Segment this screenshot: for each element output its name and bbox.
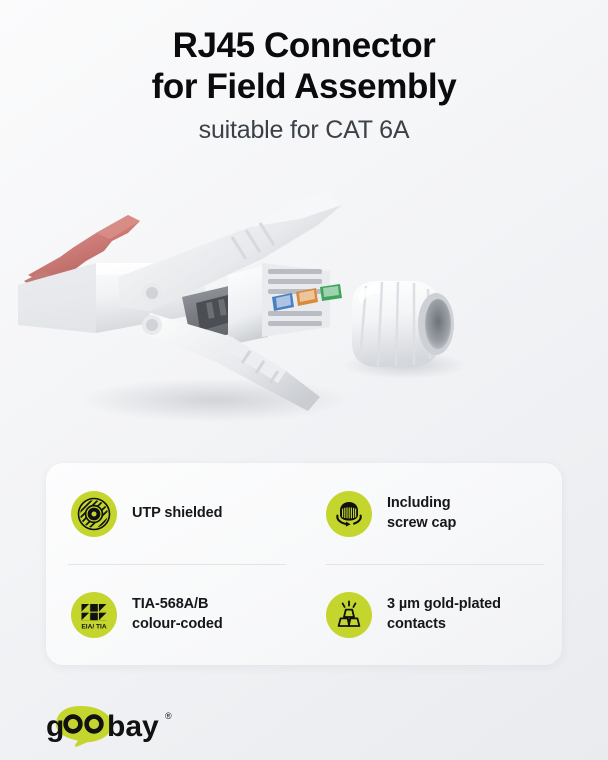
feature-label: TIA-568A/B colour-coded (132, 595, 223, 634)
page-title: RJ45 Connector for Field Assembly (0, 26, 608, 107)
page-subtitle: suitable for CAT 6A (0, 116, 608, 145)
logo-text-bay: bay (107, 710, 159, 743)
feature-including-screw-cap: Including screw cap (304, 463, 562, 564)
contact-comb-block (228, 263, 342, 345)
eia-tia-colour-grid-icon: EIA/ TIA (71, 592, 117, 638)
screw-cap (352, 281, 454, 367)
title-line-1: RJ45 Connector (0, 26, 608, 67)
feature-column-left: UTP shielded (46, 463, 304, 665)
feature-column-right: Including screw cap (304, 463, 562, 665)
feature-tia-colour-coded: EIA/ TIA TIA-568A/B colour-coded (46, 564, 304, 665)
logo-trademark: ® (165, 711, 172, 721)
logo-text-g: g (46, 710, 64, 743)
gold-bars-icon (326, 592, 372, 638)
title-line-2: for Field Assembly (0, 67, 608, 108)
feature-label: Including screw cap (387, 494, 456, 533)
feature-gold-plated-contacts: 3 µm gold-plated contacts (304, 564, 562, 665)
feature-label: 3 µm gold-plated contacts (387, 595, 501, 634)
screw-cap-rotate-icon (326, 491, 372, 537)
eia-tia-icon-text: EIA/ TIA (81, 623, 107, 630)
page-header: RJ45 Connector for Field Assembly suitab… (0, 0, 608, 145)
feature-card: UTP shielded (46, 463, 562, 665)
feature-label: UTP shielded (132, 504, 222, 523)
cable-shield-cross-section-icon (71, 491, 117, 537)
product-image (0, 185, 608, 440)
feature-utp-shielded: UTP shielded (46, 463, 304, 564)
goobay-logo: g bay ® (44, 703, 184, 747)
